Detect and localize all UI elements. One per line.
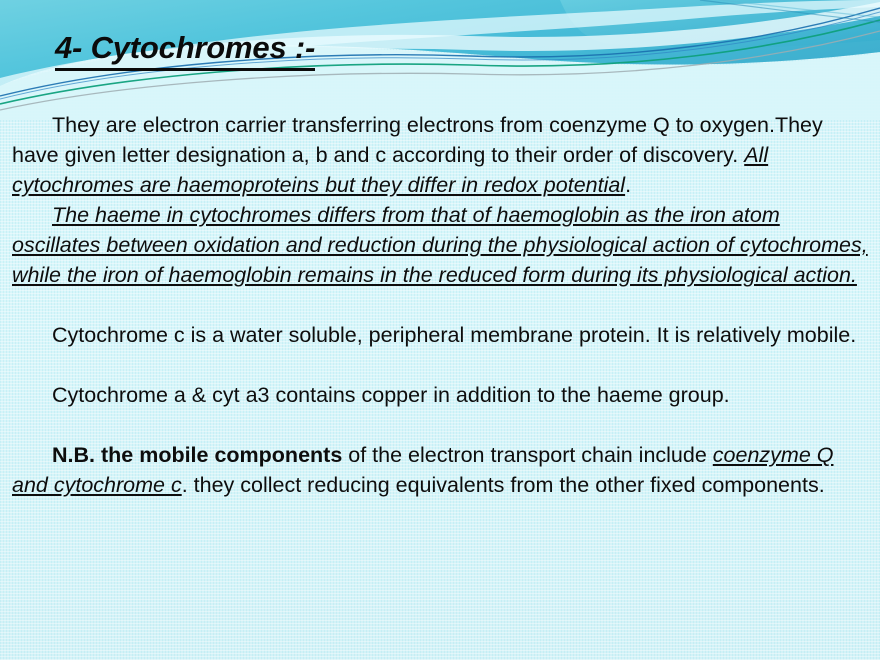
run-text: of the electron transport chain include xyxy=(342,443,713,467)
run-text-strong: N.B. the mobile components xyxy=(52,443,342,467)
paragraph-nb-mobile-components: N.B. the mobile components of the electr… xyxy=(12,440,872,500)
run-text-emphasis: The haeme in cytochromes differs from th… xyxy=(12,203,868,287)
paragraph-spacer xyxy=(12,350,872,380)
page-title: 4- Cytochromes :- xyxy=(55,31,315,71)
run-text: Cytochrome c is a water soluble, periphe… xyxy=(52,323,856,347)
slide-content: 4- Cytochromes :- They are electron carr… xyxy=(0,0,880,660)
paragraph-cytochromes-intro: They are electron carrier transferring e… xyxy=(12,110,872,200)
presentation-slide: 4- Cytochromes :- They are electron carr… xyxy=(0,0,880,660)
run-text: . they collect reducing equivalents from… xyxy=(182,473,825,497)
paragraph-spacer xyxy=(12,290,872,320)
paragraph-cytochrome-c: Cytochrome c is a water soluble, periphe… xyxy=(12,320,872,350)
run-text: . xyxy=(625,173,631,197)
run-text: They are electron carrier transferring e… xyxy=(12,113,823,167)
paragraph-haeme-difference: The haeme in cytochromes differs from th… xyxy=(12,200,872,290)
slide-body-text: They are electron carrier transferring e… xyxy=(12,110,872,500)
paragraph-cytochrome-a: Cytochrome a & cyt a3 contains copper in… xyxy=(12,380,872,410)
run-text: Cytochrome a & cyt a3 contains copper in… xyxy=(52,383,730,407)
paragraph-spacer xyxy=(12,410,872,440)
